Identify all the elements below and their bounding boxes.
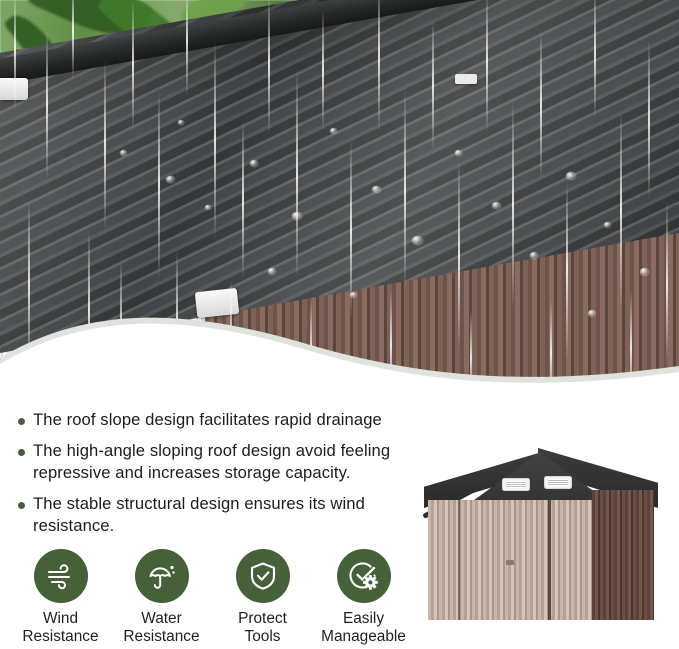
eave-bracket-left (0, 78, 28, 100)
water-droplet (372, 186, 381, 193)
bullet-text: The high-angle sloping roof design avoid… (33, 440, 448, 484)
water-droplet (412, 236, 423, 245)
door-handle (506, 560, 514, 565)
feature-label: Water Resistance (123, 610, 199, 647)
water-droplet (292, 212, 302, 220)
product-vent-left (502, 478, 530, 491)
feature-water-resistance[interactable]: Water Resistance (111, 549, 212, 647)
feature-badge (236, 549, 290, 603)
door-seam-left (458, 500, 460, 620)
feature-easily-manageable[interactable]: Easily Manageable (313, 549, 414, 647)
water-droplet (330, 128, 337, 134)
feature-icon-row: Wind Resistance Water Resistance (10, 549, 414, 647)
bullet-text: The stable structural design ensures its… (33, 493, 448, 537)
bullet-text: The roof slope design facilitates rapid … (33, 409, 382, 431)
water-droplet (492, 202, 501, 209)
shed-side-wall (592, 490, 654, 620)
product-photo-shed (420, 438, 660, 620)
ridge-end-cap (455, 74, 477, 84)
wind-icon (45, 560, 77, 592)
list-item: The roof slope design facilitates rapid … (18, 409, 448, 431)
water-droplet (178, 120, 184, 125)
feature-label: Wind Resistance (22, 610, 98, 647)
bullet-dot-icon (18, 449, 25, 456)
water-droplet (455, 150, 462, 156)
feature-badge (34, 549, 88, 603)
water-droplet (250, 160, 258, 167)
feature-protect-tools[interactable]: Protect Tools (212, 549, 313, 647)
list-item: The stable structural design ensures its… (18, 493, 448, 537)
feature-badge (135, 549, 189, 603)
feature-label: Easily Manageable (321, 610, 406, 647)
water-droplet (530, 252, 538, 259)
product-feature-panel: The roof slope design facilitates rapid … (0, 0, 679, 649)
shield-check-icon (247, 560, 279, 592)
umbrella-icon (146, 560, 178, 592)
feature-label: Protect Tools (238, 610, 287, 647)
list-item: The high-angle sloping roof design avoid… (18, 440, 448, 484)
bullet-dot-icon (18, 502, 25, 509)
bullet-dot-icon (18, 418, 25, 425)
water-droplet (566, 172, 576, 180)
feature-badge (337, 549, 391, 603)
water-droplet (120, 150, 127, 156)
water-droplet (640, 268, 649, 276)
hero-image (0, 0, 679, 410)
product-vent-right (544, 476, 572, 489)
feature-bullet-list: The roof slope design facilitates rapid … (18, 409, 448, 546)
door-seam-center (548, 500, 551, 620)
feature-wind-resistance[interactable]: Wind Resistance (10, 549, 111, 647)
wave-divider (0, 280, 679, 410)
gear-check-icon (348, 560, 380, 592)
water-droplet (604, 222, 611, 228)
water-droplet (268, 268, 276, 275)
water-droplet (166, 176, 175, 183)
water-droplet (205, 205, 211, 210)
